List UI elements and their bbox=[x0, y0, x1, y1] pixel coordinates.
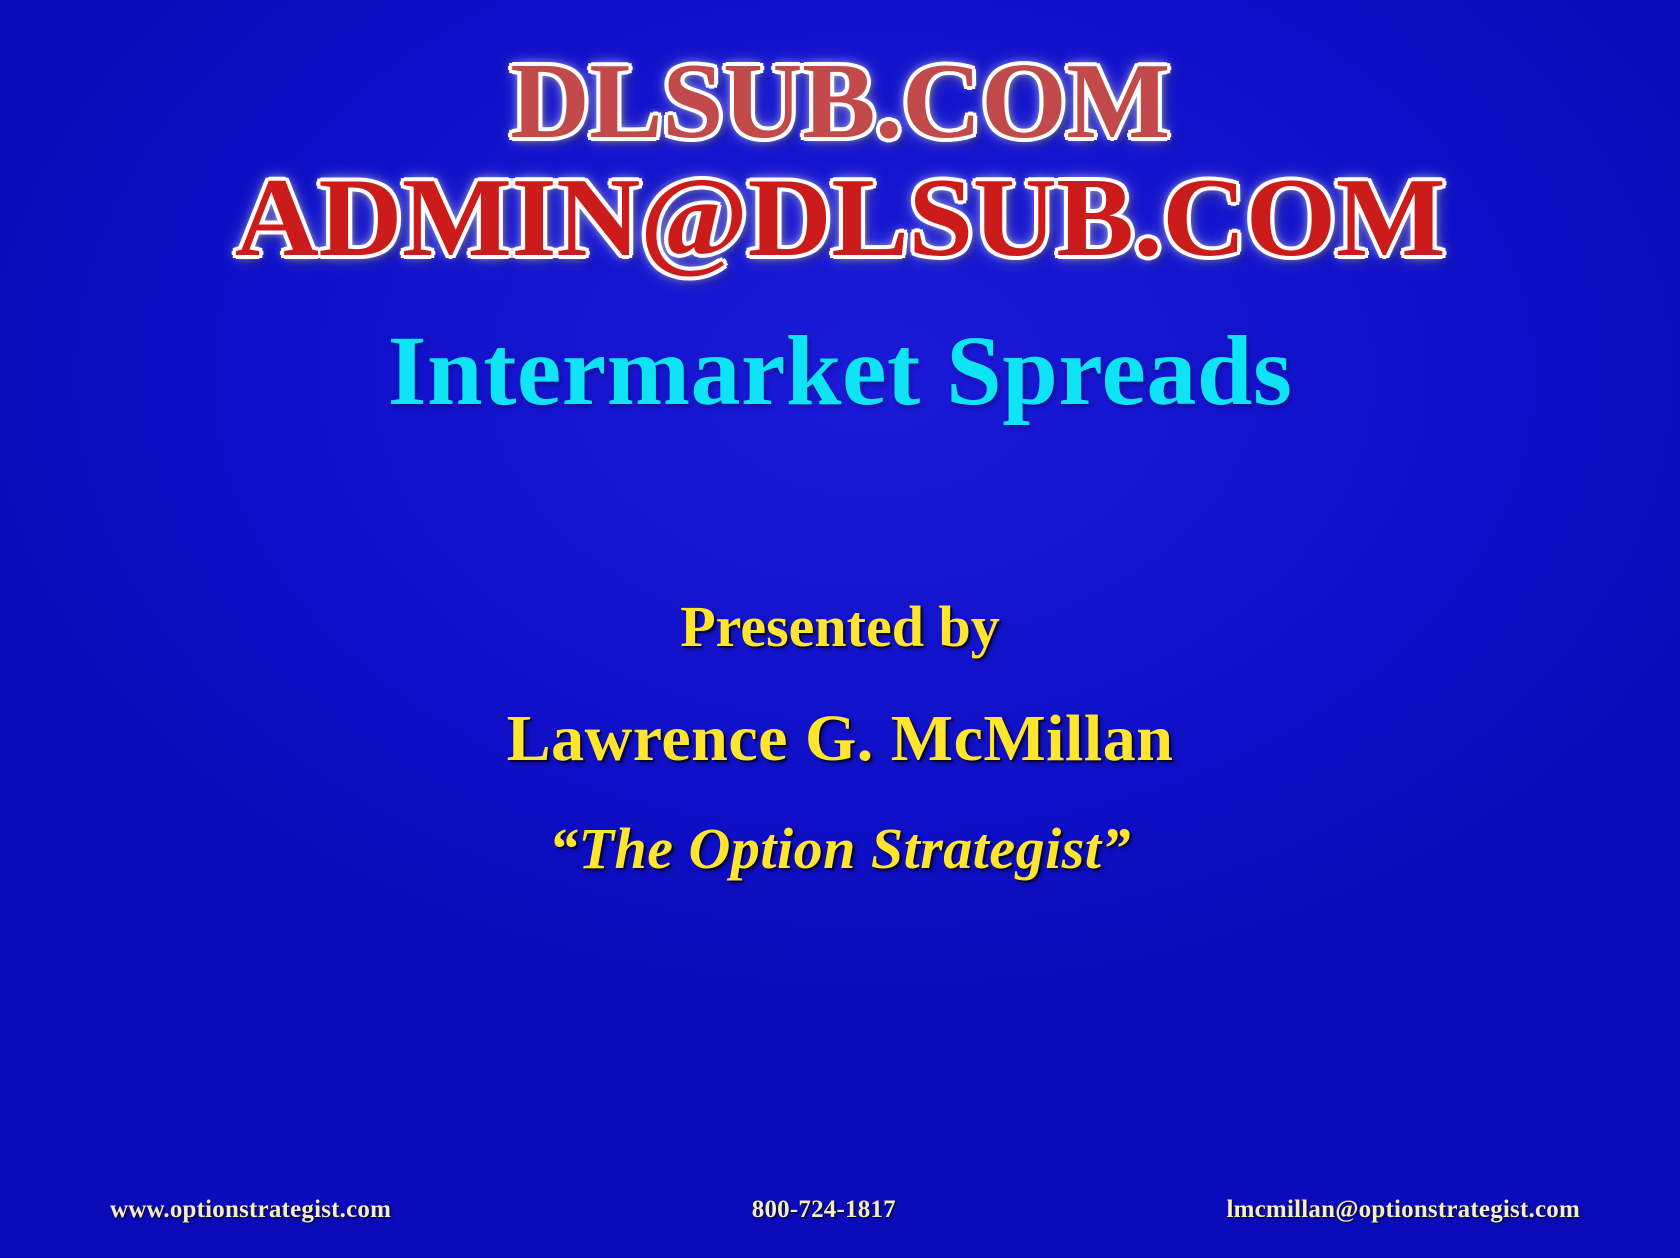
footer-email: lmcmillan@optionstrategist.com bbox=[1226, 1196, 1580, 1224]
slide-title: Intermarket Spreads bbox=[0, 318, 1680, 423]
presenter-name: Lawrence G. McMillan bbox=[0, 706, 1680, 772]
presenter-block: Presented by Lawrence G. McMillan “The O… bbox=[0, 598, 1680, 878]
presentation-slide: DLSUB.COM ADMIN@DLSUB.COM Intermarket Sp… bbox=[0, 0, 1680, 1258]
watermark-site-text: DLSUB.COM bbox=[0, 48, 1680, 156]
footer-website: www.optionstrategist.com bbox=[110, 1196, 391, 1224]
slide-footer: www.optionstrategist.com 800-724-1817 lm… bbox=[110, 1196, 1570, 1224]
presenter-tagline: “The Option Strategist” bbox=[0, 820, 1680, 878]
footer-phone: 800-724-1817 bbox=[752, 1196, 896, 1224]
watermark-overlay: DLSUB.COM ADMIN@DLSUB.COM bbox=[0, 48, 1680, 274]
watermark-email-text: ADMIN@DLSUB.COM bbox=[0, 162, 1680, 274]
presented-by-label: Presented by bbox=[0, 598, 1680, 656]
